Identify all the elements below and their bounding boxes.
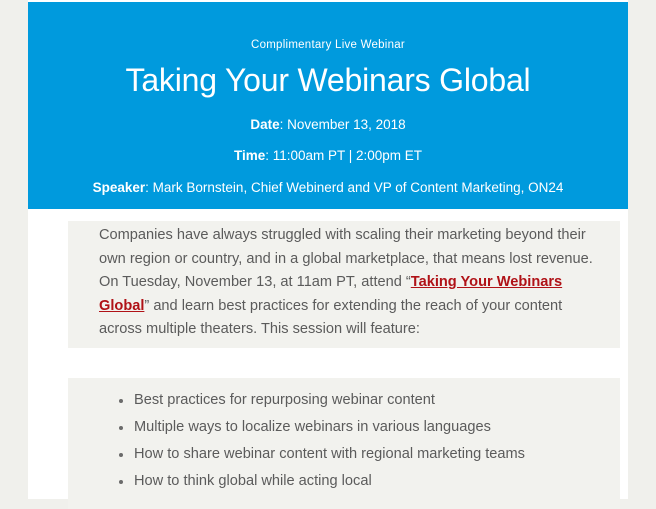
hero-eyebrow-text: Complimentary Live Webinar: [28, 2, 628, 52]
list-item: How to think global while acting local: [118, 468, 606, 495]
body-copy-panel: Companies have always struggled with sca…: [68, 221, 620, 348]
webinar-date-line: Date: November 13, 2018: [28, 99, 628, 133]
time-value: : 11:00am PT | 2:00pm ET: [265, 148, 422, 163]
webinar-time-line: Time: 11:00am PT | 2:00pm ET: [28, 133, 628, 164]
email-card: Complimentary Live Webinar Taking Your W…: [28, 0, 628, 499]
time-label: Time: [234, 148, 265, 163]
intro-paragraph: Companies have always struggled with sca…: [68, 224, 620, 342]
date-value: : November 13, 2018: [280, 117, 406, 132]
intro-paragraph-part-2: ” and learn best practices for extending…: [99, 298, 562, 338]
speaker-label: Speaker: [93, 180, 146, 195]
webinar-speaker-line: Speaker: Mark Bornstein, Chief Webinerd …: [28, 164, 628, 196]
list-item: Multiple ways to localize webinars in va…: [118, 414, 606, 441]
session-highlights-panel: Best practices for repurposing webinar c…: [68, 378, 620, 509]
list-item: How to share webinar content with region…: [118, 441, 606, 468]
date-label: Date: [250, 117, 279, 132]
session-highlights-list: Best practices for repurposing webinar c…: [68, 387, 620, 495]
webinar-title: Taking Your Webinars Global: [28, 52, 628, 99]
list-item: Best practices for repurposing webinar c…: [118, 387, 606, 414]
speaker-value: : Mark Bornstein, Chief Webinerd and VP …: [145, 180, 563, 195]
webinar-hero-banner: Complimentary Live Webinar Taking Your W…: [28, 2, 628, 209]
